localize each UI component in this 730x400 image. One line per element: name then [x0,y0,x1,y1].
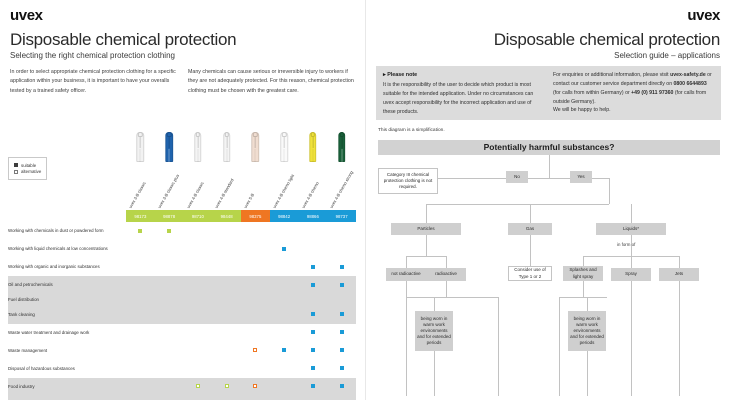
coverall-legs [312,149,313,162]
flow-box-jets[interactable]: Jets [659,268,699,281]
coverall-hood [253,132,257,137]
column-header-98878: uvex 3-B classic plus [156,173,179,209]
flow-box-yes[interactable]: Yes [570,171,592,183]
matrix-cell [212,306,241,324]
intro-paragraph-1: In order to select appropriate chemical … [10,68,176,96]
alternative-marker-icon [253,348,257,352]
alternative-marker-icon [196,384,200,388]
matrix-cell [212,222,241,240]
decision-flowchart: Potentially harmful substances? Category… [378,138,720,396]
note-heading: ▸ Please note [383,71,543,80]
matrix-cell [184,378,213,396]
table-row: Waste water treatment and drainage work [8,324,356,342]
coverall-hood [167,132,171,137]
matrix-cell [299,396,328,400]
suitable-marker-icon [311,384,315,388]
coverall-legs [169,149,170,162]
product-code-98878: 98878 [155,210,184,222]
row-label: Agriculture [8,396,126,400]
connector-particles-split-down [426,235,427,256]
note-left-column: ▸ Please note It is the responsibility o… [383,71,543,115]
matrix-cell [155,342,184,360]
contact-text-1: For enquiries or additional information,… [553,72,670,78]
matrix-cell [155,240,184,258]
connector-warm2-h [559,297,607,298]
matrix-cell [270,222,299,240]
flow-box-splashes[interactable]: Splashes and light spray [563,266,603,281]
coverall-figure-row [126,128,356,172]
table-row: Working with organic and inorganic subst… [8,258,356,276]
matrix-cell [270,276,299,294]
connector-warm2-bottom [587,351,588,396]
coverall-zip [341,137,342,148]
connector-split-3way [426,204,609,205]
matrix-cell [155,360,184,378]
suitable-marker-icon [311,330,315,334]
row-label: Working with chemicals in dust or powder… [8,222,126,240]
coverall-hood [311,132,315,137]
matrix-cell [299,258,328,276]
matrix-cell [155,222,184,240]
coverall-legs [284,149,285,162]
matrix-cell [299,294,328,306]
brochure-spread: uvex Disposable chemical protection Sele… [0,0,730,400]
legend: suitable alternative [8,157,47,180]
matrix-cell [270,294,299,306]
matrix-cell [184,276,213,294]
connector-jets-tail [679,281,680,396]
flow-box-not-radioactive[interactable]: not radioactive [386,268,426,281]
matrix-cell [299,276,328,294]
matrix-cell [241,360,270,378]
matrix-cell [299,342,328,360]
coverall-zip [169,137,170,148]
matrix-cell [299,378,328,396]
coverall-zip [284,137,285,148]
matrix-cell [126,258,155,276]
matrix-cell [241,240,270,258]
suitable-marker-icon [340,366,344,370]
matrix-cell [327,342,356,360]
application-matrix-table: 9817398878987109844898375988429886698737… [8,210,356,400]
coverall-legs [255,149,256,162]
matrix-cell [212,240,241,258]
please-note-box: ▸ Please note It is the responsibility o… [376,66,721,120]
diagram-note: This diagram is a simplification. [378,128,445,133]
suitable-marker-icon [340,330,344,334]
coverall-zip [313,137,314,148]
row-label: Waste water treatment and drainage work [8,324,126,342]
matrix-cell [126,324,155,342]
flow-box-gas[interactable]: Gas [508,223,552,235]
matrix-cell [212,342,241,360]
matrix-cell [155,306,184,324]
coverall-hood [196,132,200,137]
intro-text-block: In order to select appropriate chemical … [10,68,355,96]
matrix-cell [270,360,299,378]
matrix-cell [327,222,356,240]
matrix-cell [126,306,155,324]
alternative-marker-icon [253,384,257,388]
matrix-cell [126,396,155,400]
connector-no-branch [423,178,549,179]
matrix-cell [184,324,213,342]
connector-not-radioactive-down [406,256,407,268]
matrix-cell [241,324,270,342]
coverall-figure-98866 [299,128,328,172]
row-label: Oil and petrochemicals [8,276,126,294]
connector-warm2-center-down [587,297,588,311]
table-row: Agriculture [8,396,356,400]
flow-box-warm-work-1[interactable]: being worn in warm work environments and… [415,311,453,351]
flow-box-category-iii: Category III chemical protection clothin… [378,168,438,194]
legend-label-alternative: alternative [21,169,41,174]
matrix-cell [270,306,299,324]
coverall-figure-98878 [155,128,184,172]
column-header-98737: uvex 4-B chemo strong [329,170,354,209]
matrix-cell [126,378,155,396]
suitable-marker-icon [340,312,344,316]
coverall-figure-98448 [212,128,241,172]
table-row: Disposal of hazardous substances [8,360,356,378]
row-label: Fuel distribution [8,294,126,306]
suitable-marker-icon [138,229,142,233]
contact-text-3: (for calls from within Germany) or [553,90,631,96]
row-label: Food industry [8,378,126,396]
matrix-cell [327,324,356,342]
matrix-cell [270,342,299,360]
matrix-cell [184,306,213,324]
matrix-cell [299,222,328,240]
coverall-zip [255,137,256,148]
table-row: Working with chemicals in dust or powder… [8,222,356,240]
flow-box-spray[interactable]: Spray [611,268,651,281]
matrix-cell [270,378,299,396]
matrix-cell [270,240,299,258]
matrix-cell [241,378,270,396]
matrix-cell [270,324,299,342]
suitable-marker-icon [282,247,286,251]
matrix-cell [184,240,213,258]
matrix-cell [184,258,213,276]
column-header-row: uvex 3-B classicuvex 3-B classic plusuve… [126,172,356,210]
matrix-cell [241,276,270,294]
product-code-98866: 98866 [299,210,328,222]
alternative-marker-icon [225,384,229,388]
product-code-98173: 98173 [126,210,155,222]
connector-warm1-h [406,297,498,298]
suitable-marker-icon [311,348,315,352]
matrix-cell [126,342,155,360]
suitable-marker-icon [311,265,315,269]
connector-radioactive-down [446,256,447,268]
matrix-cell [299,324,328,342]
suitable-marker-icon [340,283,344,287]
connector-warm1-bottom [434,351,435,396]
product-code-98737: 98737 [327,210,356,222]
matrix-cell [212,258,241,276]
matrix-cell [327,306,356,324]
matrix-cell [184,360,213,378]
row-label: Disposal of hazardous substances [8,360,126,378]
matrix-cell [155,396,184,400]
phone-international: +49 (0) 911 97360 [631,90,673,96]
matrix-cell [241,306,270,324]
matrix-cell [327,294,356,306]
matrix-cell [327,258,356,276]
suitable-marker-icon [311,366,315,370]
connector-warm1-left-down [406,297,407,396]
matrix-cell [126,294,155,306]
matrix-cell [241,396,270,400]
connector-gas-down [530,204,531,223]
coverall-legs [341,149,342,162]
table-row: Working with liquid chemicals at low con… [8,240,356,258]
matrix-cell [327,360,356,378]
connector-warm2-left-down [559,297,560,396]
coverall-zip [226,137,227,148]
flow-banner: Potentially harmful substances? [378,140,720,155]
matrix-cell [299,360,328,378]
suitable-marker-icon [14,163,18,167]
matrix-cell [155,276,184,294]
suitable-marker-icon [311,312,315,316]
matrix-cell [155,294,184,306]
suitable-marker-icon [340,384,344,388]
right-page-title: Disposable chemical protection [494,30,720,50]
row-label: Working with organic and inorganic subst… [8,258,126,276]
flow-box-liquids[interactable]: Liquids* [596,223,666,235]
column-header-98173: uvex 3-B classic [128,181,147,209]
suitable-marker-icon [311,283,315,287]
connector-spray-tail [631,281,632,396]
table-row: Fuel distribution [8,294,356,306]
matrix-cell [327,276,356,294]
flow-box-no[interactable]: No [506,171,528,183]
matrix-cell [126,276,155,294]
matrix-cell [184,342,213,360]
connector-warm1-right-down [498,297,499,396]
connector-r-tail [446,281,447,297]
connector-warm1-center-down [434,297,435,311]
matrix-cell [327,240,356,258]
matrix-cell [126,360,155,378]
matrix-cell [212,324,241,342]
column-header-98710: uvex 4-B classic [185,181,204,209]
legend-label-suitable: suitable [21,163,36,168]
flow-label-in-form-of: in form of [617,242,635,247]
matrix-cell [212,276,241,294]
matrix-cell [184,396,213,400]
suitable-marker-icon [167,229,171,233]
row-label: Tank cleaning [8,306,126,324]
matrix-cell [212,396,241,400]
matrix-cell [270,396,299,400]
matrix-cell [241,294,270,306]
coverall-figure-98375 [241,128,270,172]
coverall-zip [198,137,199,148]
note-body-text: It is the responsibility of the user to … [383,82,533,115]
connector-banner-down [549,155,550,178]
connector-yes-down [609,178,610,204]
coverall-hood [282,132,286,137]
connector-splash-tail [583,281,584,297]
connector-particles-down [426,204,427,223]
legend-item-alternative: alternative [14,169,41,174]
connector-nr-tail [406,281,407,297]
coverall-figure-98737 [327,128,356,172]
column-header-98866: uvex 4-B chemo [300,181,319,209]
matrix-cell [126,240,155,258]
legend-item-suitable: suitable [14,163,41,168]
flow-box-warm-work-2[interactable]: being worn in warm work environments and… [568,311,606,351]
row-label: Waste management [8,342,126,360]
product-code-98448: 98448 [212,210,241,222]
matrix-cell [212,378,241,396]
coverall-legs [197,149,198,162]
matrix-cell [270,258,299,276]
matrix-cell [299,306,328,324]
matrix-cell [155,324,184,342]
matrix-cell [126,222,155,240]
connector-spray-down [631,256,632,268]
product-code-98710: 98710 [184,210,213,222]
table-row: Tank cleaning [8,306,356,324]
table-code-header-row: 9817398878987109844898375988429886698737 [8,210,356,222]
matrix-cell [299,240,328,258]
matrix-cell [241,258,270,276]
matrix-cell [155,258,184,276]
column-header-98842: uvex 4-B chemo light [271,173,294,209]
coverall-figure-98710 [184,128,213,172]
contact-closing: We will be happy to help. [553,106,713,115]
suitable-marker-icon [282,348,286,352]
suitable-marker-icon [340,265,344,269]
left-page-subtitle: Selecting the right chemical protection … [10,51,175,60]
uvex-logo-right: uvex [687,7,720,24]
matrix-cell [212,360,241,378]
flow-box-consider-type[interactable]: Consider use of Type 1 or 2 [508,266,552,281]
table-row: Oil and petrochemicals [8,276,356,294]
left-page: uvex Disposable chemical protection Sele… [0,0,365,400]
connector-liquids-down [631,204,632,223]
matrix-cell [184,294,213,306]
matrix-cell [184,222,213,240]
matrix-cell [241,342,270,360]
intro-paragraph-2: Many chemicals can cause serious or irre… [188,68,354,96]
product-code-98842: 98842 [270,210,299,222]
left-page-title: Disposable chemical protection [10,30,236,50]
flow-box-radioactive[interactable]: radioactive [426,268,466,281]
matrix-cell [241,222,270,240]
uvex-logo-left: uvex [10,7,43,24]
connector-jets-down [679,256,680,268]
coverall-figure-98842 [270,128,299,172]
coverall-figure-98173 [126,128,155,172]
coverall-legs [226,149,227,162]
phone-domestic: 0800 6644893 [674,81,707,87]
matrix-cell [327,378,356,396]
flow-box-particles[interactable]: Particles [391,223,461,235]
table-corner-cell [8,210,126,222]
row-label: Working with liquid chemicals at low con… [8,240,126,258]
connector-gas-to-type [530,235,531,268]
matrix-cell [155,378,184,396]
suitable-marker-icon [340,348,344,352]
column-header-98448: uvex 4-B standard [214,178,235,209]
coverall-hood [339,132,343,137]
coverall-legs [140,149,141,162]
coverall-zip [140,137,141,148]
connector-particles-split-h [406,256,446,257]
matrix-cell [212,294,241,306]
matrix-cell [327,396,356,400]
alternative-marker-icon [14,170,18,174]
product-code-98375: 98375 [241,210,270,222]
table-row: Waste management [8,342,356,360]
website-link[interactable]: uvex-safety.de [670,72,706,78]
coverall-hood [224,132,228,137]
column-header-98375: uvex 5-B [243,193,255,209]
table-row: Food industry [8,378,356,396]
note-right-column: For enquiries or additional information,… [553,71,713,115]
right-page: uvex Disposable chemical protection Sele… [365,0,730,400]
right-page-subtitle: Selection guide – applications [614,51,720,60]
coverall-hood [138,132,142,137]
